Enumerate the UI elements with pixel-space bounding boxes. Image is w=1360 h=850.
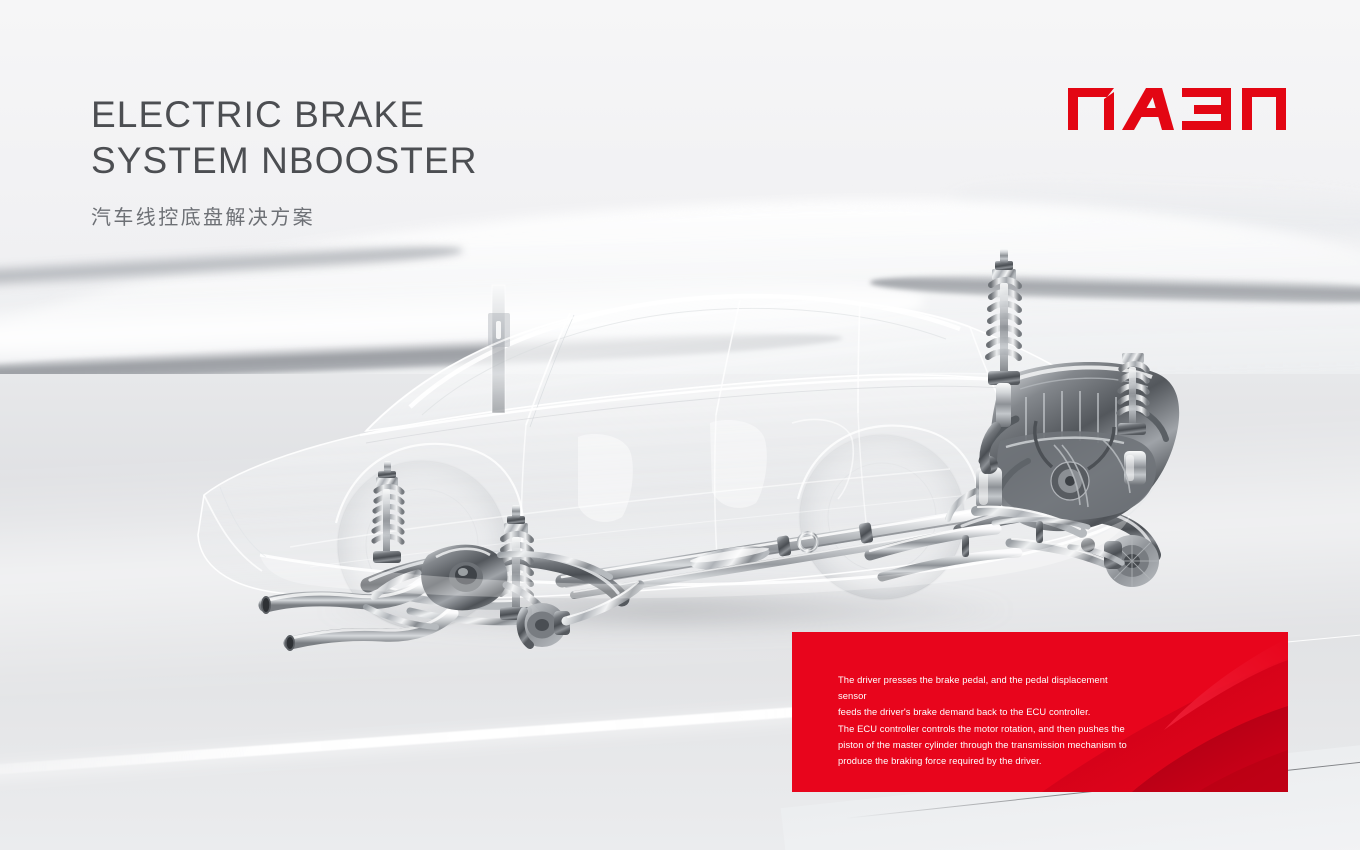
rear-brake-hub <box>518 603 570 647</box>
callout-line-4: piston of the master cylinder through th… <box>838 737 1138 753</box>
callout-panel: The driver presses the brake pedal, and … <box>792 632 1288 792</box>
callout-line-5: produce the braking force required by th… <box>838 753 1138 769</box>
hero-illustration <box>170 255 1180 655</box>
callout-line-1: The driver presses the brake pedal, and … <box>838 672 1138 704</box>
page-title: ELECTRIC BRAKE SYSTEM NBOOSTER 汽车线控底盘解决方… <box>91 92 478 230</box>
subtitle-chinese: 汽车线控底盘解决方案 <box>91 201 478 230</box>
front-brake-hub <box>1104 535 1159 587</box>
title-line-1: ELECTRIC BRAKE <box>91 92 478 138</box>
callout-line-3: The ECU controller controls the motor ro… <box>838 721 1138 737</box>
title-line-2: SYSTEM NBOOSTER <box>91 138 478 184</box>
poster-root: ELECTRIC BRAKE SYSTEM NBOOSTER 汽车线控底盘解决方… <box>0 0 1360 850</box>
nasn-wordmark-logo <box>1066 86 1288 130</box>
engine-block <box>982 362 1179 531</box>
callout-text: The driver presses the brake pedal, and … <box>838 672 1138 769</box>
callout-line-2: feeds the driver's brake demand back to … <box>838 704 1138 720</box>
